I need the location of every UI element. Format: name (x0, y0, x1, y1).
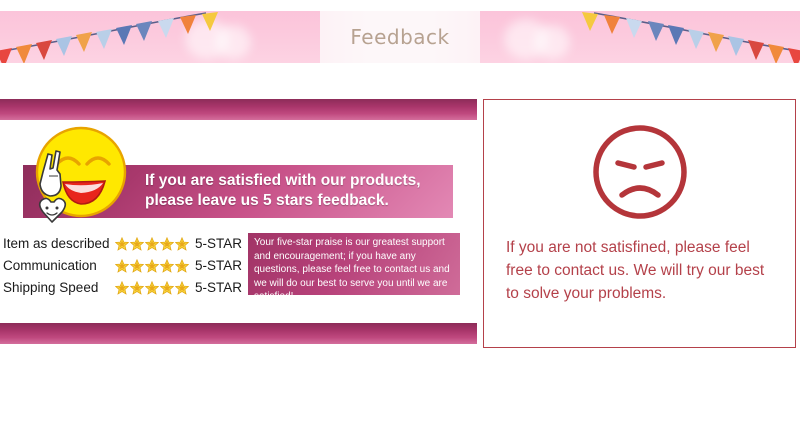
gold-star-icon (115, 237, 129, 251)
five-star-note-box: Your five-star praise is our greatest su… (248, 233, 460, 295)
star-rating (115, 281, 189, 295)
gold-star-icon (130, 281, 144, 295)
star-rating (115, 237, 189, 251)
gold-star-icon (160, 237, 174, 251)
gold-star-icon (145, 259, 159, 273)
rating-row: Shipping Speed 5-STAR (3, 278, 243, 297)
star-rating (115, 259, 189, 273)
panel-top-gradient-bar (0, 99, 477, 120)
rating-label: Communication (3, 258, 115, 273)
gold-star-icon (160, 259, 174, 273)
rating-value: 5-STAR (195, 280, 242, 295)
rating-list: Item as described 5-STAR Communication (3, 234, 243, 300)
gold-star-icon (175, 281, 189, 295)
headline-line-1: If you are satisfied with our products, (145, 171, 421, 191)
gold-star-icon (145, 281, 159, 295)
page-title: Feedback (350, 25, 449, 49)
five-star-note-text: Your five-star praise is our greatest su… (254, 236, 454, 304)
gold-star-icon (160, 281, 174, 295)
positive-feedback-panel: If you are satisfied with our products, … (0, 97, 477, 348)
rating-value: 5-STAR (195, 236, 242, 251)
gold-star-icon (115, 259, 129, 273)
gold-star-icon (130, 237, 144, 251)
headline-line-2: please leave us 5 stars feedback. (145, 191, 421, 211)
content-panels: If you are satisfied with our products, … (0, 97, 800, 352)
bunting-flags-icon (0, 11, 256, 63)
header-banner: Feedback (0, 11, 800, 63)
rating-row: Communication 5-STAR (3, 256, 243, 275)
gold-star-icon (130, 259, 144, 273)
negative-feedback-panel: If you are not satisfined, please feel f… (483, 99, 796, 348)
sad-face-icon (587, 119, 693, 225)
gold-star-icon (145, 237, 159, 251)
page-title-panel: Feedback (320, 11, 480, 63)
gold-star-icon (115, 281, 129, 295)
rating-label: Shipping Speed (3, 280, 115, 295)
smiling-face-peace-sign-icon (27, 124, 131, 228)
rating-row: Item as described 5-STAR (3, 234, 243, 253)
bunting-flags-icon (544, 11, 800, 63)
rating-label: Item as described (3, 236, 115, 251)
panel-bottom-gradient-bar (0, 323, 477, 344)
gold-star-icon (175, 259, 189, 273)
rating-value: 5-STAR (195, 258, 242, 273)
negative-feedback-message: If you are not satisfined, please feel f… (506, 236, 778, 305)
gold-star-icon (175, 237, 189, 251)
